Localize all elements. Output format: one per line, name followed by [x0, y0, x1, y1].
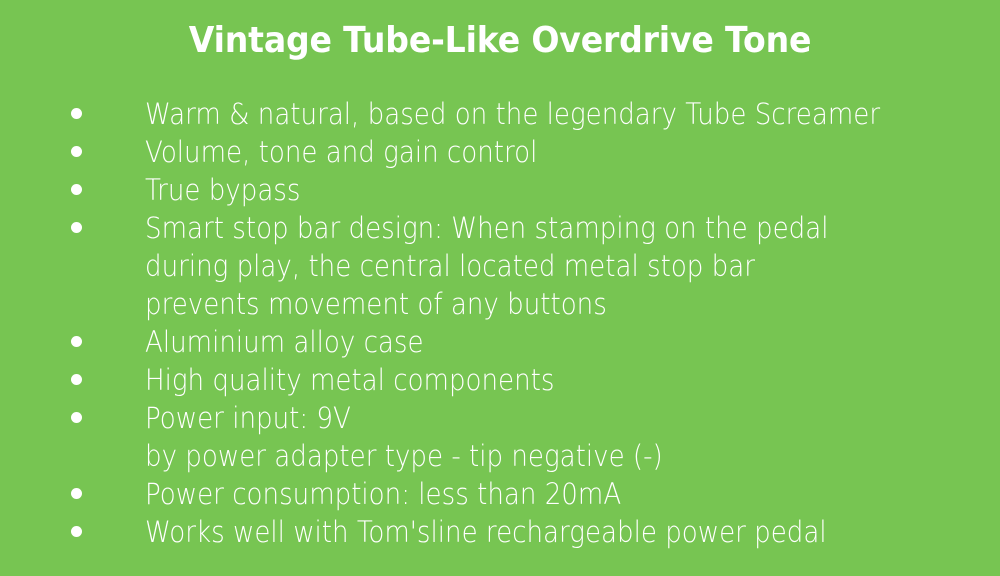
list-item-text: High quality metal components [145, 361, 1000, 399]
list-item-text: Power input: 9Vby power adapter type - t… [145, 399, 1000, 475]
bullet-dot-icon [71, 374, 82, 385]
list-item-line: Power input: 9V [145, 399, 915, 437]
list-item-line: True bypass [145, 171, 915, 209]
list-item: High quality metal components [0, 361, 1000, 399]
list-item: Power input: 9Vby power adapter type - t… [0, 399, 1000, 475]
list-item-line: Aluminium alloy case [145, 323, 915, 361]
list-item: Power consumption: less than 20mA [0, 475, 1000, 513]
list-item: Smart stop bar design: When stamping on … [0, 209, 1000, 323]
list-item-text: Warm & natural, based on the legendary T… [145, 95, 1000, 133]
bullet-dot-icon [71, 184, 82, 195]
list-item-line: High quality metal components [145, 361, 915, 399]
list-item-line: Volume, tone and gain control [145, 133, 915, 171]
list-item-line: during play, the central located metal s… [145, 247, 915, 285]
list-item-text: Works well with Tom'sline rechargeable p… [145, 513, 1000, 551]
bullet-dot-icon [71, 222, 82, 233]
list-item-line: Works well with Tom'sline rechargeable p… [145, 513, 915, 551]
list-item-text: True bypass [145, 171, 1000, 209]
list-item-line: prevents movement of any buttons [145, 285, 915, 323]
product-feature-slide: Vintage Tube-Like Overdrive Tone Warm & … [0, 0, 1000, 576]
bullet-dot-icon [71, 526, 82, 537]
page-title: Vintage Tube-Like Overdrive Tone [40, 18, 960, 64]
list-item: Volume, tone and gain control [0, 133, 1000, 171]
list-item: Aluminium alloy case [0, 323, 1000, 361]
bullet-dot-icon [71, 336, 82, 347]
feature-list: Warm & natural, based on the legendary T… [0, 95, 1000, 551]
list-item-line: Smart stop bar design: When stamping on … [145, 209, 915, 247]
list-item-text: Smart stop bar design: When stamping on … [145, 209, 1000, 323]
list-item-line: by power adapter type - tip negative (-) [145, 437, 915, 475]
bullet-dot-icon [71, 412, 82, 423]
bullet-dot-icon [71, 488, 82, 499]
list-item-line: Warm & natural, based on the legendary T… [145, 95, 915, 133]
list-item: Works well with Tom'sline rechargeable p… [0, 513, 1000, 551]
bullet-dot-icon [71, 108, 82, 119]
bullet-dot-icon [71, 146, 82, 157]
list-item-text: Power consumption: less than 20mA [145, 475, 1000, 513]
list-item: True bypass [0, 171, 1000, 209]
list-item-text: Aluminium alloy case [145, 323, 1000, 361]
list-item-text: Volume, tone and gain control [145, 133, 1000, 171]
list-item-line: Power consumption: less than 20mA [145, 475, 915, 513]
list-item: Warm & natural, based on the legendary T… [0, 95, 1000, 133]
